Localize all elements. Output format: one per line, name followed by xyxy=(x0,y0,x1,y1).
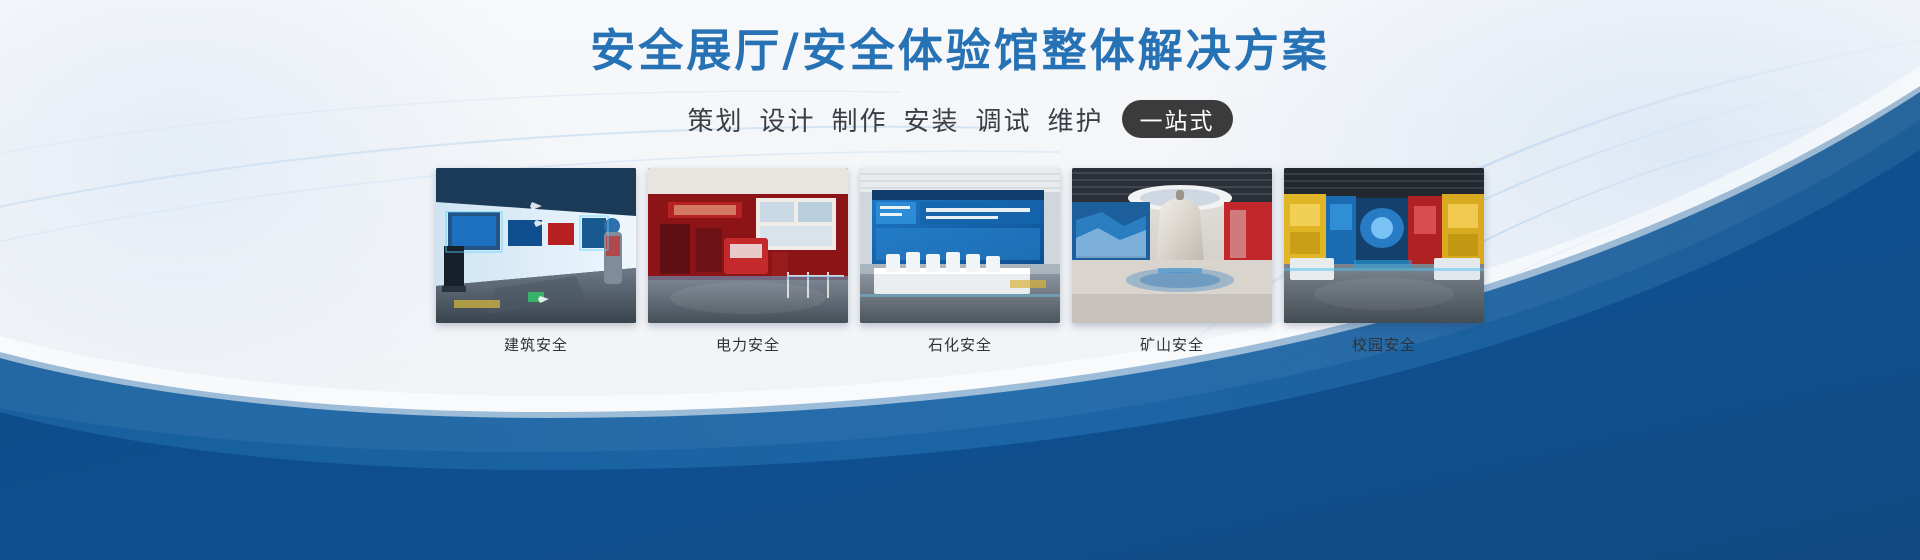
gallery-card[interactable]: 校园安全 xyxy=(1284,168,1484,355)
service-step: 策划 xyxy=(687,101,743,138)
gallery-card-label: 建筑安全 xyxy=(504,334,568,355)
one-stop-badge: 一站式 xyxy=(1122,100,1233,138)
page-title: 安全展厅/安全体验馆整体解决方案 xyxy=(0,24,1920,78)
gallery-thumbnail-campus[interactable] xyxy=(1284,168,1484,323)
service-step: 制作 xyxy=(831,101,887,138)
gallery-thumbnail-construction[interactable] xyxy=(436,168,636,323)
service-steps-row: 策划 设计 制作 安装 调试 维护 一站式 xyxy=(0,100,1920,138)
service-step: 安装 xyxy=(904,101,960,138)
gallery-thumbnail-power[interactable] xyxy=(648,168,848,323)
gallery-card[interactable]: 电力安全 xyxy=(648,168,848,355)
gallery-thumbnail-petrochemical[interactable] xyxy=(860,168,1060,323)
service-step: 设计 xyxy=(759,101,815,138)
gallery-card[interactable]: 矿山安全 xyxy=(1072,168,1272,355)
service-step: 维护 xyxy=(1048,101,1104,138)
service-step: 调试 xyxy=(976,101,1032,138)
gallery-card-label: 矿山安全 xyxy=(1140,334,1204,355)
banner-content: 安全展厅/安全体验馆整体解决方案 策划 设计 制作 安装 调试 维护 一站式 xyxy=(0,0,1920,560)
gallery-card-label: 石化安全 xyxy=(928,334,992,355)
gallery-card[interactable]: 石化安全 xyxy=(860,168,1060,355)
service-steps-list: 策划 设计 制作 安装 调试 维护 xyxy=(687,101,1103,138)
gallery-card-label: 校园安全 xyxy=(1352,334,1416,355)
gallery-thumbnail-mining[interactable] xyxy=(1072,168,1272,323)
exhibition-gallery: 建筑安全 xyxy=(436,168,1484,355)
gallery-card-label: 电力安全 xyxy=(716,334,780,355)
promo-banner: 安全展厅/安全体验馆整体解决方案 策划 设计 制作 安装 调试 维护 一站式 xyxy=(0,0,1920,560)
gallery-card[interactable]: 建筑安全 xyxy=(436,168,636,355)
